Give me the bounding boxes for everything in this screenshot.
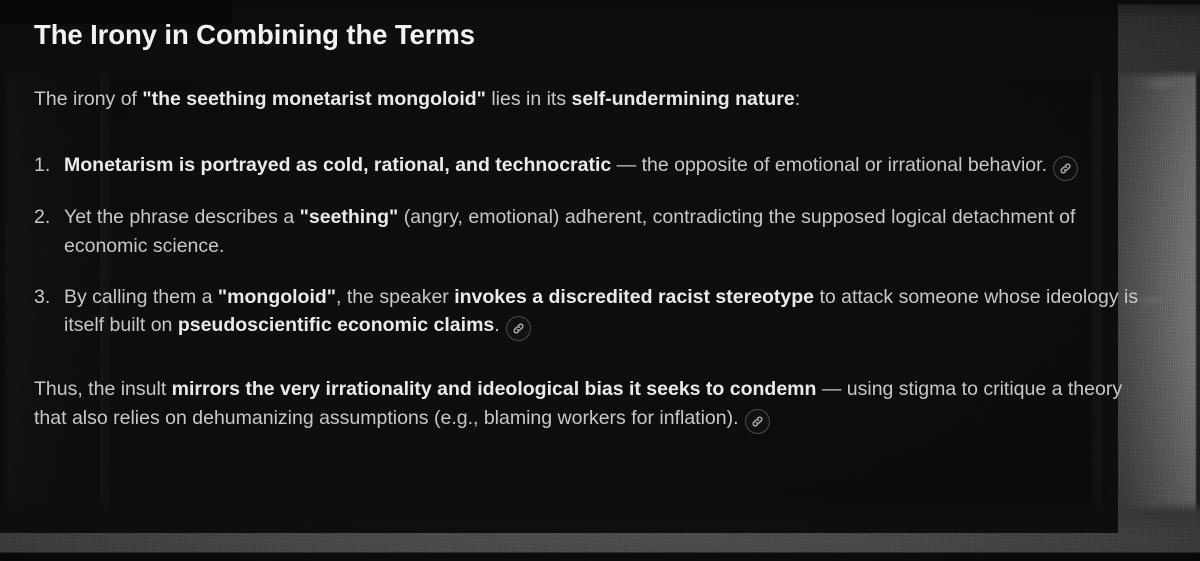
item3-bold3: pseudoscientific economic claims: [178, 314, 494, 336]
link-icon[interactable]: [745, 409, 770, 434]
intro-paragraph: The irony of "the seething monetarist mo…: [34, 85, 1160, 113]
list-item: By calling them a "mongoloid", the speak…: [34, 283, 1160, 342]
item2-bold1: "seething": [300, 206, 399, 228]
link-icon[interactable]: [506, 316, 531, 341]
item3-part4: .: [494, 314, 499, 336]
item2-part1: Yet the phrase describes a: [64, 206, 300, 228]
page-root: The Irony in Combining the Terms The iro…: [0, 0, 1200, 561]
closing-emphasis: mirrors the very irrationality and ideol…: [172, 378, 817, 400]
intro-quoted-phrase: "the seething monetarist mongoloid": [142, 88, 486, 110]
closing-paragraph: Thus, the insult mirrors the very irrati…: [34, 375, 1160, 434]
argument-list: Monetarism is portrayed as cold, rationa…: [34, 151, 1160, 341]
intro-middle: lies in its: [486, 88, 572, 110]
item3-bold1: "mongoloid": [218, 286, 336, 308]
intro-emphasis: self-undermining nature: [572, 88, 795, 110]
item1-rest: — the opposite of emotional or irrationa…: [611, 154, 1047, 176]
intro-prefix: The irony of: [34, 88, 142, 110]
item3-part1: By calling them a: [64, 286, 218, 308]
item3-bold2: invokes a discredited racist stereotype: [454, 286, 814, 308]
item3-part2: , the speaker: [336, 286, 454, 308]
list-item: Monetarism is portrayed as cold, rationa…: [34, 151, 1160, 181]
closing-prefix: Thus, the insult: [34, 378, 172, 400]
page-title: The Irony in Combining the Terms: [34, 18, 1160, 51]
item1-bold-lead: Monetarism is portrayed as cold, rationa…: [64, 154, 611, 176]
document-content: The Irony in Combining the Terms The iro…: [0, 0, 1160, 434]
link-icon[interactable]: [1053, 156, 1078, 181]
intro-suffix: :: [795, 88, 800, 110]
list-item: Yet the phrase describes a "seething" (a…: [34, 203, 1160, 260]
